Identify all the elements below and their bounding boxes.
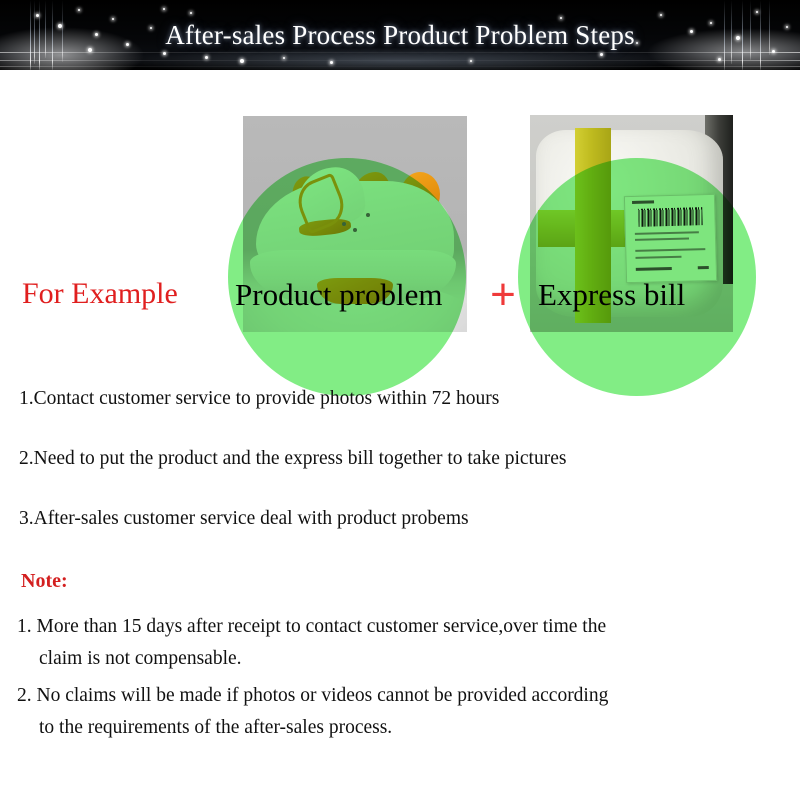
step-item: 3.After-sales customer service deal with… (19, 508, 800, 530)
note-title: Note: (21, 570, 800, 593)
note-section: Note: 1. More than 15 days after receipt… (0, 570, 800, 749)
note-item-line: 2. No claims will be made if photos or v… (17, 685, 608, 706)
header-banner: After-sales Process Product Problem Step… (0, 0, 800, 70)
note-item-line-continued: to the requirements of the after-sales p… (39, 712, 793, 744)
note-item: 2. No claims will be made if photos or v… (17, 680, 793, 743)
example-section: For Example (0, 70, 800, 370)
note-item-line: 1. More than 15 days after receipt to co… (17, 616, 606, 637)
step-item: 2.Need to put the product and the expres… (19, 448, 800, 470)
express-bill-caption: Express bill (538, 277, 685, 313)
for-example-label: For Example (22, 277, 178, 311)
product-problem-caption: Product problem (235, 277, 443, 313)
step-item: 1.Contact customer service to provide ph… (19, 388, 800, 410)
note-item: 1. More than 15 days after receipt to co… (17, 611, 793, 674)
note-item-line-continued: claim is not compensable. (39, 643, 793, 675)
page-title: After-sales Process Product Problem Step… (0, 0, 800, 70)
plus-icon: + (481, 273, 525, 317)
steps-list: 1.Contact customer service to provide ph… (0, 388, 800, 568)
